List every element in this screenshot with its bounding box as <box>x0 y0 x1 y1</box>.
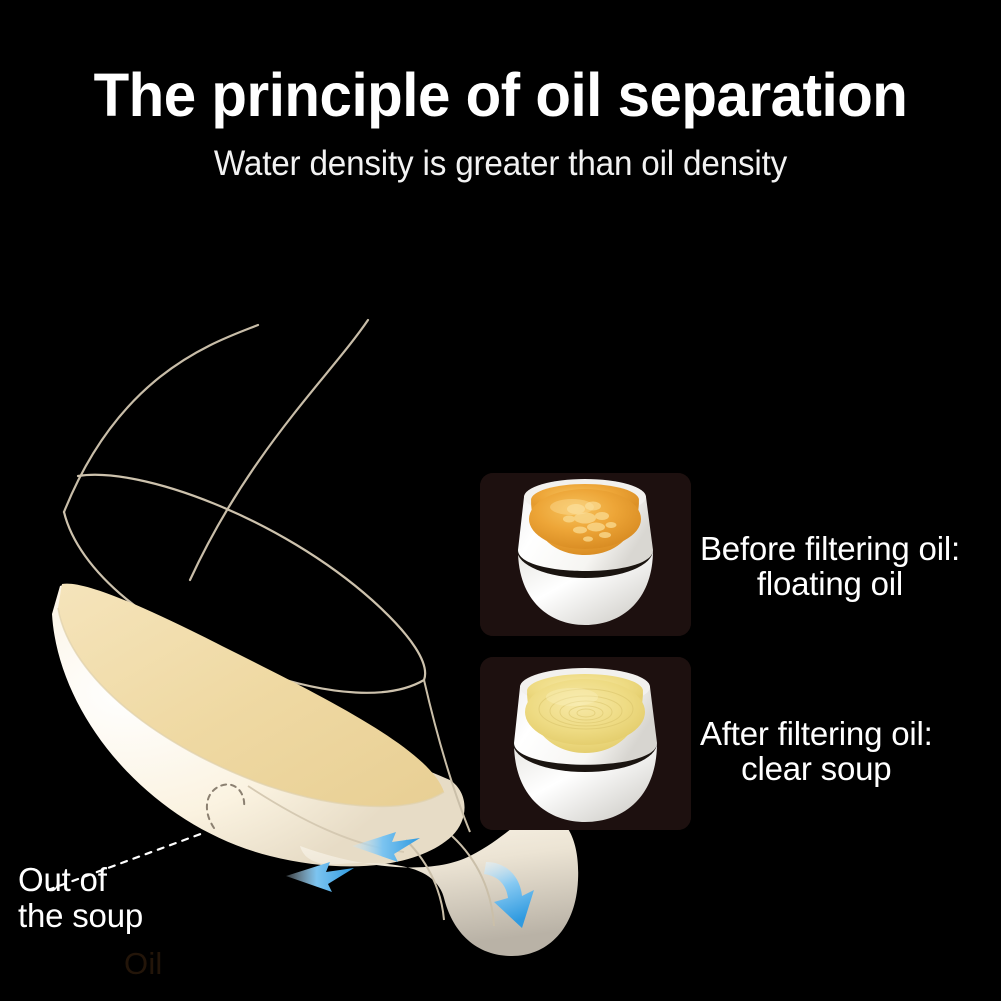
caption-after-line-1: After filtering oil: <box>700 716 933 751</box>
page-title: The principle of oil separation <box>23 64 979 127</box>
caption-before-line-1: Before filtering oil: <box>700 531 960 566</box>
page-subtitle: Water density is greater than oil densit… <box>25 146 976 183</box>
ladle-handle-outline <box>64 320 368 580</box>
soup-highlight <box>546 688 598 706</box>
outflow-label-line-1: Out of <box>18 862 143 898</box>
soup-highlight <box>550 499 594 515</box>
photo-tile-before[interactable] <box>480 473 691 636</box>
caption-after-line-2: clear soup <box>700 751 933 786</box>
photo-tile-after[interactable] <box>480 657 691 830</box>
poster-canvas: The principle of oil separation Water de… <box>0 0 1001 1001</box>
caption-before-line-2: floating oil <box>700 566 960 601</box>
flow-arrow-1 <box>286 862 354 892</box>
outflow-label: Out of the soup <box>18 862 143 933</box>
caption-before: Before filtering oil: floating oil <box>700 531 960 602</box>
ladle-oil-layer <box>58 584 444 807</box>
caption-after: After filtering oil: clear soup <box>700 716 933 787</box>
oil-layer-label: Oil <box>124 946 163 982</box>
outflow-label-line-2: the soup <box>18 898 143 934</box>
